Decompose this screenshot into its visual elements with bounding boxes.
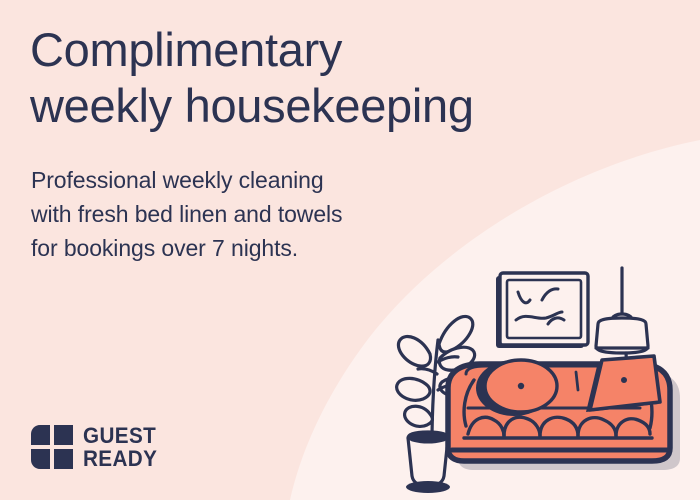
sofa-icon	[448, 356, 680, 470]
promo-banner: Complimentary weekly housekeeping Profes…	[0, 0, 700, 500]
guestready-logo: GUEST READY	[31, 424, 162, 470]
framed-picture-icon	[496, 273, 588, 348]
page-title: Complimentary weekly housekeeping	[30, 22, 474, 134]
description-text: Professional weekly cleaning with fresh …	[31, 163, 342, 265]
logo-wordmark: GUEST READY	[83, 424, 157, 470]
guestready-quadrant-mark-icon	[31, 425, 73, 469]
pendant-lamp-icon	[596, 268, 648, 370]
logo-line-2: READY	[83, 447, 157, 470]
living-room-illustration	[390, 262, 690, 500]
logo-line-1: GUEST	[83, 424, 157, 447]
